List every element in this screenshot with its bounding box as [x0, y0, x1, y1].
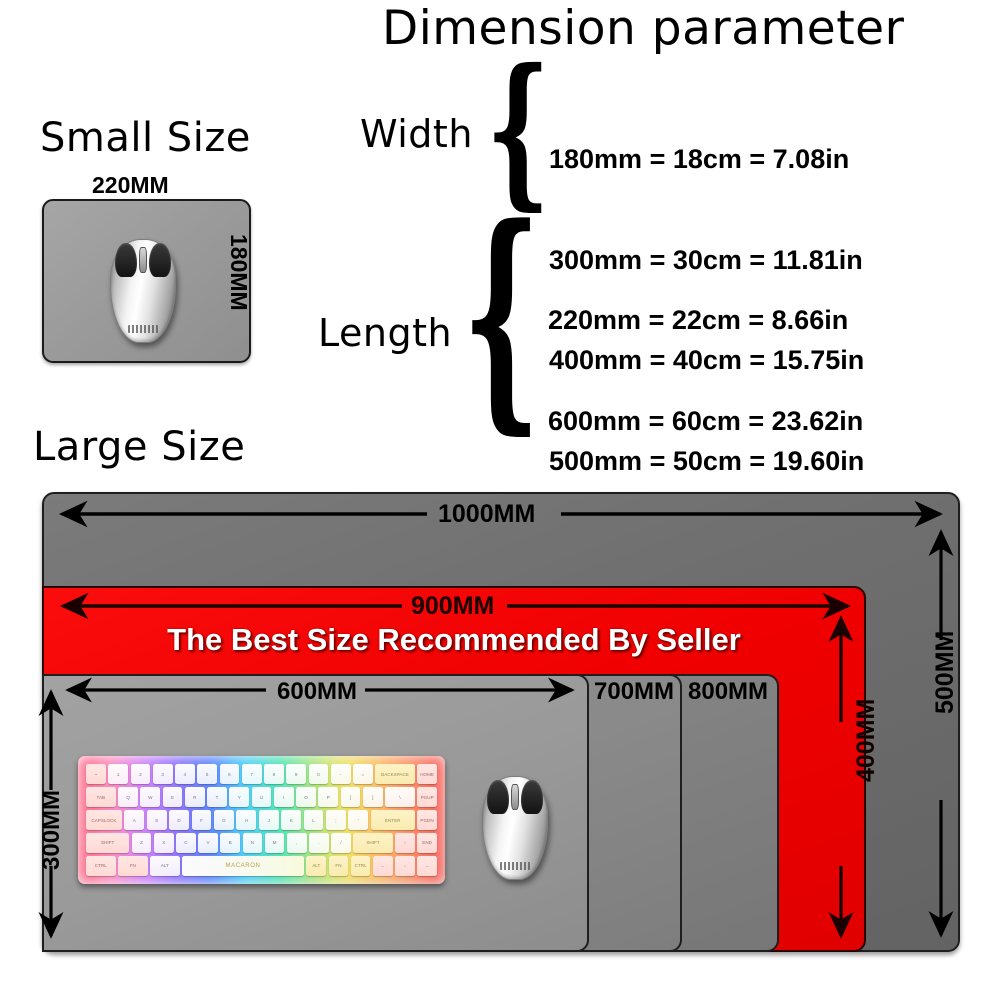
page-title: Dimension parameter: [382, 2, 904, 56]
keyboard-row: CAPSLOCK A S D F G H J K L ; ' ENTER PGD…: [86, 810, 437, 830]
small-pad-width-label: 220MM: [92, 172, 169, 199]
key: 8: [264, 764, 284, 784]
key: 5: [197, 764, 217, 784]
keyboard-keys: ~ 1 2 3 4 5 6 7 8 9 0 - = BACKSPACE HOME…: [84, 761, 439, 879]
key-enter: ENTER: [371, 810, 415, 830]
mouse-icon-large: [482, 776, 548, 880]
key: 2: [131, 764, 151, 784]
key-capslock: CAPSLOCK: [86, 810, 122, 830]
key: D: [169, 810, 189, 830]
key: S: [147, 810, 167, 830]
mouse-brand-logo: [500, 862, 531, 870]
key-shift-right: SHIFT: [353, 833, 392, 853]
key: 4: [175, 764, 195, 784]
key-backspace: BACKSPACE: [375, 764, 415, 784]
dim-label-300mm: 300MM: [38, 790, 66, 870]
key: 9: [286, 764, 306, 784]
key: C: [176, 833, 196, 853]
mouse-body: [482, 776, 548, 880]
key-arrow-left: ←: [373, 856, 393, 876]
key: X: [154, 833, 174, 853]
key-ctrl-left: CTRL: [86, 856, 116, 876]
key: B: [220, 833, 240, 853]
key-shift-left: SHIFT: [86, 833, 129, 853]
large-size-heading: Large Size: [33, 424, 245, 470]
key: [: [341, 787, 361, 807]
key: J: [259, 810, 279, 830]
keyboard-row: CTRL FN ALT MACARON ALT FN CTRL ← ↓ →: [86, 856, 437, 876]
key-arrow-up: ↑: [395, 833, 415, 853]
mouse-right-button: [149, 243, 171, 277]
dim-label-600mm: 600MM: [277, 678, 357, 706]
key: V: [198, 833, 218, 853]
small-size-heading: Small Size: [40, 115, 251, 161]
key: E: [163, 787, 183, 807]
key-backslash: \: [385, 787, 415, 807]
infographic-canvas: Dimension parameter Width { 180mm = 18cm…: [0, 0, 1000, 1000]
key: 0: [309, 764, 329, 784]
dim-label-800mm: 800MM: [688, 678, 768, 706]
key-fn-left: FN: [118, 856, 148, 876]
key: K: [281, 810, 301, 830]
mouse-body: [110, 239, 176, 343]
length-row: 600mm = 60cm = 23.62in: [548, 405, 863, 439]
key: O: [296, 787, 316, 807]
key: N: [243, 833, 263, 853]
dim-label-500mm: 500MM: [931, 631, 960, 714]
mouse-scroll-wheel: [511, 784, 519, 810]
key-arrow-right: →: [417, 856, 437, 876]
key: Z: [132, 833, 152, 853]
key: L: [304, 810, 324, 830]
dim-label-1000mm: 1000MM: [438, 500, 535, 529]
key: Y: [229, 787, 249, 807]
key: Q: [118, 787, 138, 807]
key: M: [265, 833, 285, 853]
key: F: [192, 810, 212, 830]
key: 7: [242, 764, 262, 784]
key-arrow-down: ↓: [395, 856, 415, 876]
key: ;: [326, 810, 346, 830]
keyboard-graphic: ~ 1 2 3 4 5 6 7 8 9 0 - = BACKSPACE HOME…: [78, 756, 445, 884]
key: =: [353, 764, 373, 784]
dim-label-700mm: 700MM: [594, 678, 674, 706]
keyboard-row: ~ 1 2 3 4 5 6 7 8 9 0 - = BACKSPACE HOME: [86, 764, 437, 784]
length-row: 220mm = 22cm = 8.66in: [548, 304, 863, 338]
key-spacebar: MACARON: [182, 856, 304, 876]
best-size-banner: The Best Size Recommended By Seller: [42, 622, 866, 658]
key-ctrl-right: CTRL: [351, 856, 371, 876]
key: W: [140, 787, 160, 807]
key: R: [185, 787, 205, 807]
key: ]: [363, 787, 383, 807]
key-alt-left: ALT: [150, 856, 180, 876]
key: ,: [287, 833, 307, 853]
key-end: END: [417, 833, 437, 853]
length-brace: {: [462, 196, 541, 434]
mouse-icon-small: [110, 239, 176, 343]
key-home: HOME: [417, 764, 437, 784]
key-tab: TAB: [86, 787, 116, 807]
key: 6: [220, 764, 240, 784]
mouse-right-button: [521, 780, 543, 814]
length-group-label: Length: [318, 311, 452, 355]
small-pad-height-label: 180MM: [225, 234, 252, 311]
key-pageup: PGUP: [417, 787, 437, 807]
key: 3: [153, 764, 173, 784]
key: /: [331, 833, 351, 853]
key-fn-right: FN: [329, 856, 349, 876]
width-group-label: Width: [360, 112, 473, 156]
keyboard-row: SHIFT Z X C V B N M , . / SHIFT ↑ END: [86, 833, 437, 853]
keyboard-row: TAB Q W E R T Y U I O P [ ] \ PGUP: [86, 787, 437, 807]
mouse-brand-logo: [128, 325, 159, 333]
key-alt-right: ALT: [306, 856, 326, 876]
key: 1: [108, 764, 128, 784]
width-row: 180mm = 18cm = 7.08in: [549, 143, 864, 177]
key: .: [309, 833, 329, 853]
key: -: [331, 764, 351, 784]
mouse-scroll-wheel: [139, 247, 147, 273]
mouse-left-button: [487, 780, 509, 814]
key: ': [348, 810, 368, 830]
key: U: [252, 787, 272, 807]
key: A: [124, 810, 144, 830]
dim-label-900mm: 900MM: [411, 592, 494, 621]
key: G: [214, 810, 234, 830]
key-pagedown: PGDN: [417, 810, 437, 830]
dim-label-400mm: 400MM: [852, 699, 881, 782]
key: ~: [86, 764, 106, 784]
key: P: [318, 787, 338, 807]
key: I: [274, 787, 294, 807]
mouse-left-button: [115, 243, 137, 277]
key: T: [207, 787, 227, 807]
key: H: [236, 810, 256, 830]
